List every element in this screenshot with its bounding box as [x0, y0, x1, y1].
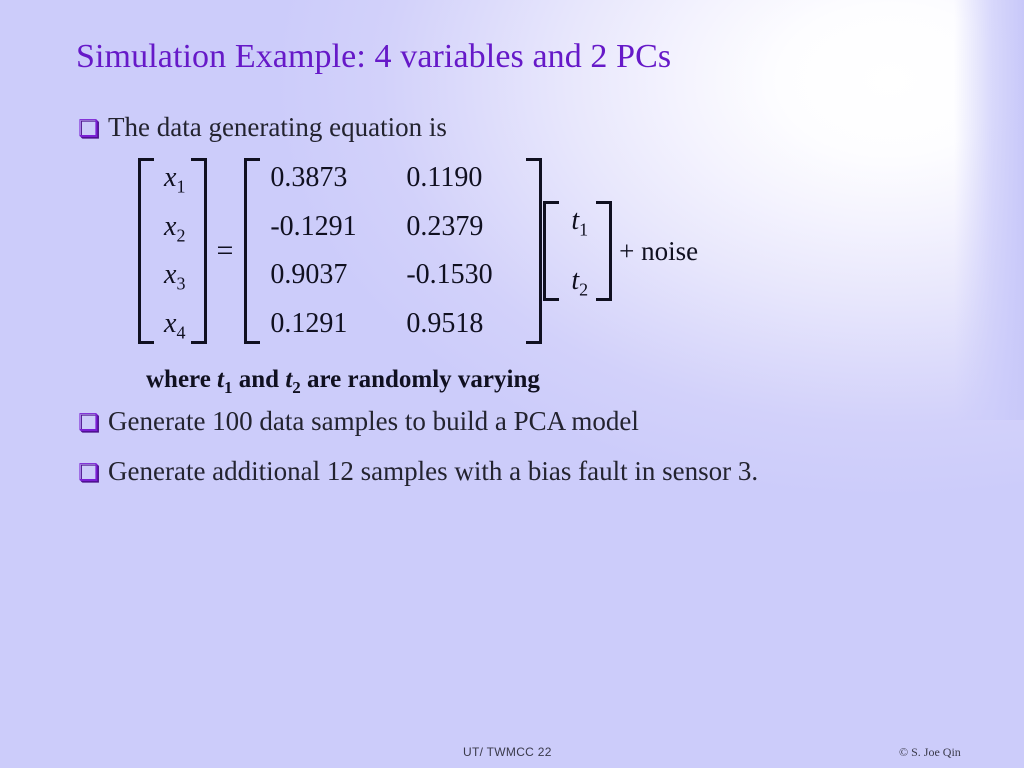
- left-bracket: [138, 158, 154, 344]
- x-entry-1: x1: [164, 162, 185, 194]
- matrix-row: 0.1291 0.9518: [270, 308, 516, 340]
- matrix-cells: 0.3873 0.1190 -0.1291 0.2379 0.9037 -0.1…: [260, 158, 526, 344]
- matrix-cell: 0.1190: [388, 162, 516, 194]
- left-bracket: [244, 158, 260, 344]
- square-bullet-icon: ❑: [78, 118, 108, 141]
- square-bullet-icon: ❑: [78, 412, 108, 435]
- x-entry-2: x2: [164, 211, 185, 243]
- slide-canvas: Simulation Example: 4 variables and 2 PC…: [0, 0, 1024, 768]
- plus-noise-term: + noise: [619, 236, 698, 267]
- x-vector-row: x3: [164, 259, 185, 291]
- bullet-item-1: ❑ The data generating equation is: [78, 112, 447, 143]
- matrix-cell: 0.2379: [388, 211, 516, 243]
- bullet-item-1-label: The data generating equation is: [108, 112, 447, 143]
- where-middle: and: [233, 366, 286, 393]
- footer-page-label: UT/ TWMCC 22: [463, 745, 552, 759]
- where-var-2-sub: 2: [292, 378, 301, 397]
- x-vector: x1 x2 x3 x4: [138, 158, 207, 344]
- t-vector-row: t1: [571, 205, 588, 237]
- where-suffix: are randomly varying: [301, 366, 540, 393]
- x-vector-row: x1: [164, 162, 185, 194]
- where-line: where t1 and t2 are randomly varying: [146, 366, 540, 394]
- matrix-row: 0.3873 0.1190: [270, 162, 516, 194]
- matrix-cell: -0.1291: [270, 211, 388, 243]
- square-bullet-icon: ❑: [78, 462, 108, 485]
- t-vector-cells: t1 t2: [559, 201, 596, 301]
- right-bracket: [596, 201, 612, 301]
- t-vector-row: t2: [571, 265, 588, 297]
- page-title: Simulation Example: 4 variables and 2 PC…: [76, 38, 671, 76]
- x-vector-cells: x1 x2 x3 x4: [154, 158, 191, 344]
- bullet-item-2-label: Generate 100 data samples to build a PCA…: [108, 406, 639, 437]
- equals-sign: =: [216, 234, 233, 268]
- equation-block: x1 x2 x3 x4 = 0.3873 0.1: [138, 158, 698, 344]
- t-entry-1: t1: [571, 205, 588, 237]
- matrix-row: -0.1291 0.2379: [270, 211, 516, 243]
- x-vector-row: x4: [164, 308, 185, 340]
- matrix-cell: 0.9037: [270, 259, 388, 291]
- matrix-cell: 0.3873: [270, 162, 388, 194]
- x-vector-row: x2: [164, 211, 185, 243]
- matrix-row: 0.9037 -0.1530: [270, 259, 516, 291]
- bullet-item-3: ❑ Generate additional 12 samples with a …: [78, 456, 758, 487]
- bullet-item-2: ❑ Generate 100 data samples to build a P…: [78, 406, 639, 437]
- coefficient-matrix: 0.3873 0.1190 -0.1291 0.2379 0.9037 -0.1…: [244, 158, 542, 344]
- t-entry-2: t2: [571, 265, 588, 297]
- matrix-cell: 0.1291: [270, 308, 388, 340]
- x-entry-4: x4: [164, 308, 185, 340]
- matrix-cell: -0.1530: [388, 259, 516, 291]
- where-var-1: t: [217, 366, 224, 393]
- left-bracket: [543, 201, 559, 301]
- x-entry-3: x3: [164, 259, 185, 291]
- footer-copyright: © S. Joe Qin: [899, 745, 961, 760]
- matrix-cell: 0.9518: [388, 308, 516, 340]
- right-bracket: [191, 158, 207, 344]
- where-var-1-sub: 1: [224, 378, 233, 397]
- where-prefix: where: [146, 366, 217, 393]
- t-vector: t1 t2: [543, 201, 612, 301]
- bullet-item-3-label: Generate additional 12 samples with a bi…: [108, 456, 758, 487]
- right-bracket: [526, 158, 542, 344]
